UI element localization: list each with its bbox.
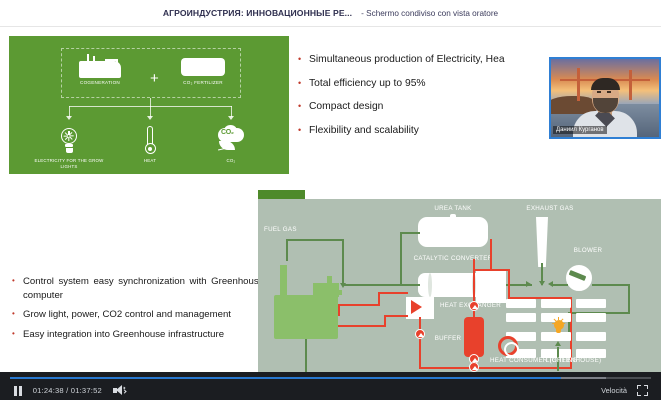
fuelgas-line-down <box>342 239 344 285</box>
exhaust-stack <box>536 217 548 267</box>
meeting-header: АГРОИНДУСТРИЯ: ИННОВАЦИОННЫЕ РЕ... - Sch… <box>0 0 661 27</box>
hot-branch-v <box>508 269 510 297</box>
co2-label: CO₂ <box>195 158 267 164</box>
infographic-arrow-3 <box>228 116 234 120</box>
playback-speed-button[interactable]: Velocità <box>601 386 627 395</box>
lighting-arrow <box>555 341 561 346</box>
greenhouse-shelf <box>541 299 571 308</box>
volume-icon[interactable] <box>113 385 127 396</box>
tank-icon <box>181 54 225 78</box>
bullet-item: • Control system easy synchronization wi… <box>12 275 264 302</box>
hot-cross <box>473 269 509 271</box>
infographic-output-electricity: ELECTRICITY FOR THE GROW LIGHTS <box>33 122 105 169</box>
engine-block <box>274 295 338 339</box>
screen-share-status: - Schermo condiviso con vista oratore <box>361 9 498 18</box>
electricity-label: ELECTRICITY FOR THE GROW LIGHTS <box>33 158 105 169</box>
engine-pipe <box>327 276 332 286</box>
fuelgas-line-h <box>286 239 344 241</box>
schematic-label-heat-consumer: HEAT CONSUMER (GREENHOUSE) <box>490 357 610 365</box>
schematic-label-catalytic-converter: CATALYTIC CONVERTER <box>403 255 503 263</box>
video-player-page: АГРОИНДУСТРИЯ: ИННОВАЦИОННЫЕ РЕ... - Sch… <box>0 0 661 400</box>
water-riser <box>384 315 386 327</box>
bullet-list-integration: • Control system easy synchronization wi… <box>12 275 264 347</box>
water-to-hx <box>378 292 408 294</box>
fertilizer-label: CO₂ FERTILIZER <box>170 80 236 85</box>
schematic-label-exhaust-gas: EXHAUST GAS <box>505 205 595 213</box>
cogeneration-infographic: COGENERATION + CO₂ FERTILIZER <box>9 36 289 174</box>
blower-out-v <box>628 284 630 312</box>
bullet-marker: • <box>12 328 23 340</box>
fuelgas-line-v <box>286 239 288 261</box>
bullet-item: • Easy integration into Greenhouse infra… <box>12 328 264 342</box>
infographic-output-heat: HEAT <box>114 122 186 164</box>
schematic-label-fuel-gas: FUEL GAS <box>264 226 297 234</box>
blower-out-h <box>592 284 630 286</box>
water-hx-low <box>384 315 408 317</box>
return-main <box>419 367 571 369</box>
urea-feed-v <box>400 232 402 284</box>
plus-symbol: + <box>150 71 159 86</box>
exhaust-arrow <box>539 281 545 286</box>
bullet-marker: • <box>12 308 23 320</box>
infographic-input-cogeneration: COGENERATION <box>70 54 130 85</box>
urea-feed-h <box>400 232 420 234</box>
infographic-output-co2: CO₂ CO₂ <box>195 122 267 164</box>
greenhouse-shelf <box>576 332 606 341</box>
schematic-label-buffer: BUFFER <box>426 335 470 343</box>
valve-icon-4 <box>469 362 479 372</box>
hx-return-v <box>419 317 421 369</box>
participant-name-badge: Даниил Курганов <box>553 126 607 134</box>
merge-to-blower <box>552 284 568 286</box>
schematic-label-blower: BLOWER <box>558 247 618 255</box>
cogeneration-schematic: FUEL GAS UREA TANK CATALYTIC CONVERTER <box>258 199 661 399</box>
seek-progress <box>10 377 561 379</box>
engine-water-h2 <box>338 325 386 327</box>
bullet-text: Easy integration into Greenhouse infrast… <box>23 328 224 342</box>
bullet-marker: • <box>12 275 23 287</box>
bullet-text: Control system easy synchronization with… <box>23 275 264 302</box>
engine-water-out1 <box>338 304 340 316</box>
bullet-text: Compact design <box>309 100 383 114</box>
hot-riser <box>490 239 492 269</box>
thermometer-icon <box>144 126 156 156</box>
infographic-input-fertilizer: CO₂ FERTILIZER <box>170 54 236 85</box>
mixer-box <box>476 269 506 303</box>
bullet-text: Flexibility and scalability <box>309 124 419 138</box>
bullet-marker: • <box>298 124 309 137</box>
heat-label: HEAT <box>114 158 186 164</box>
meeting-title: АГРОИНДУСТРИЯ: ИННОВАЦИОННЫЕ РЕ... <box>163 8 352 18</box>
cogeneration-icon <box>79 54 121 78</box>
greenhouse-shelf <box>576 299 606 308</box>
time-display: 01:24:38 / 01:37:52 <box>33 386 102 395</box>
water-up <box>378 292 380 305</box>
circulation-pump <box>498 336 518 356</box>
bullet-marker: • <box>298 77 309 90</box>
pause-button[interactable] <box>14 386 22 396</box>
mixer-to-merge <box>506 284 532 286</box>
engine-water-h1 <box>338 304 380 306</box>
greenhouse-shelf <box>506 299 536 308</box>
co2-leaf-icon: CO₂ <box>216 126 246 156</box>
speaker-video-tile[interactable]: Даниил Курганов <box>549 57 661 139</box>
valve-icon-1 <box>415 329 425 339</box>
engine-to-converter <box>342 284 420 286</box>
shared-slide: COGENERATION + CO₂ FERTILIZER <box>0 27 661 372</box>
blower-unit <box>566 265 592 291</box>
infographic-arrow-1 <box>66 116 72 120</box>
valve-icon-2 <box>469 301 479 311</box>
bullet-text: Simultaneous production of Electricity, … <box>309 53 505 67</box>
fullscreen-icon[interactable] <box>637 385 648 396</box>
engine-stack <box>280 265 287 297</box>
bullet-text: Grow light, power, CO2 control and manag… <box>23 308 231 322</box>
greenhouse-shelf <box>576 313 606 322</box>
infographic-input-group: COGENERATION + CO₂ FERTILIZER <box>61 48 241 98</box>
bullet-text: Total efficiency up to 95% <box>309 77 426 91</box>
greenhouse-shelf <box>506 313 536 322</box>
bullet-item: • Grow light, power, CO2 control and man… <box>12 308 264 322</box>
seek-bar[interactable] <box>10 375 651 380</box>
cogeneration-label: COGENERATION <box>70 80 130 85</box>
infographic-arrow-2 <box>147 116 153 120</box>
grow-lamp-icon <box>552 317 565 334</box>
schematic-label-urea-tank: UREA TANK <box>408 205 498 213</box>
bullet-marker: • <box>298 100 309 113</box>
urea-tank <box>418 217 488 247</box>
heat-exchanger-unit <box>406 297 434 319</box>
bullet-marker: • <box>298 53 309 66</box>
video-player-controls: 01:24:38 / 01:37:52 Velocità <box>0 372 661 400</box>
engine-flange <box>318 290 342 295</box>
lightbulb-icon <box>58 126 80 156</box>
